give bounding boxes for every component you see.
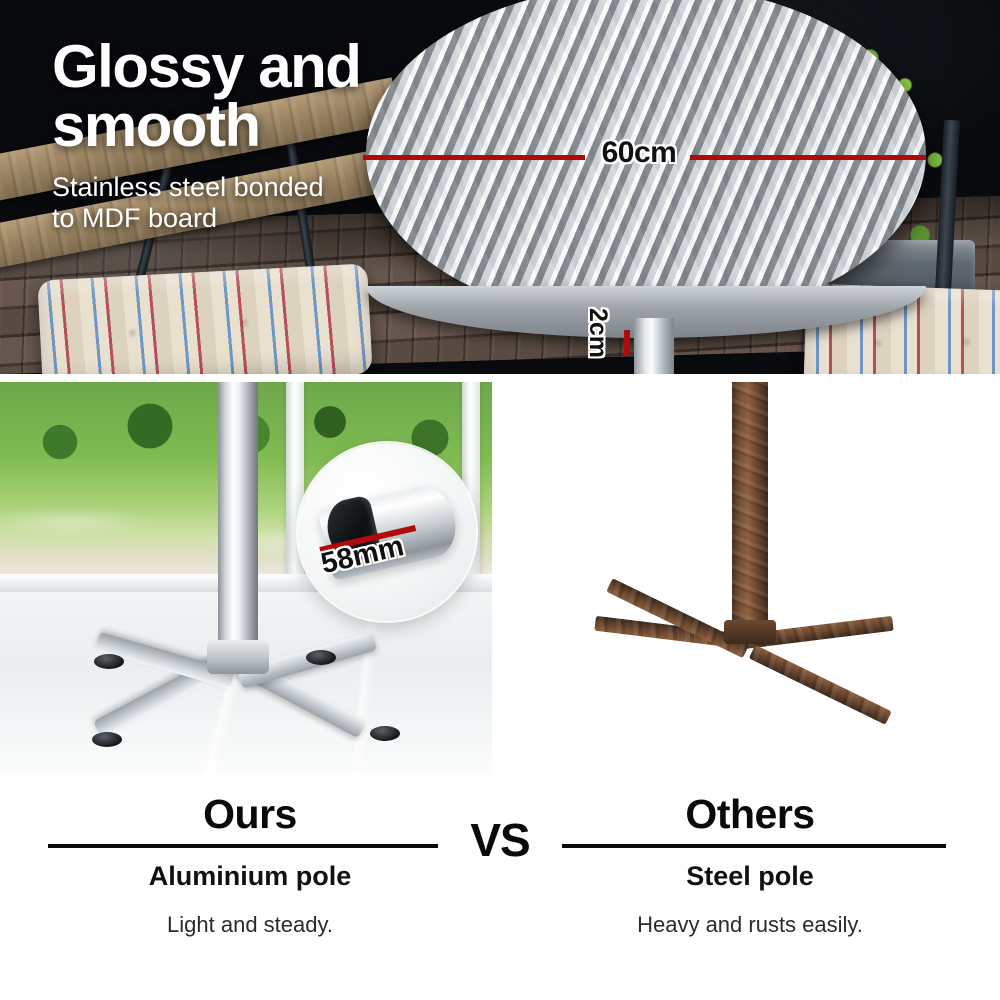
aluminium-pole (218, 382, 258, 654)
thickness-tick (624, 330, 630, 356)
divider-left (48, 844, 438, 848)
hero-headline-block: Glossy and smooth Stainless steel bonded… (52, 38, 452, 234)
thickness-label: 2cm (583, 308, 612, 358)
rusty-base-leg (749, 645, 892, 725)
base-foot (370, 726, 400, 741)
rusty-steel-pole (732, 382, 768, 632)
hero-subtext-line-2: to MDF board (52, 203, 452, 234)
others-note: Heavy and rusts easily. (540, 912, 960, 938)
product-feature-page: 60cm 2cm Glossy and smooth Stainless ste… (0, 0, 1000, 1000)
hero-section: 60cm 2cm Glossy and smooth Stainless ste… (0, 0, 1000, 374)
ours-vs-others-section: Ours Aluminium pole Light and steady. VS… (0, 780, 1000, 1000)
rusty-base-leg (606, 578, 749, 658)
ours-column: Ours Aluminium pole Light and steady. (40, 780, 460, 938)
diameter-label: 60cm (586, 136, 692, 170)
base-foot (92, 732, 122, 747)
headline-line-2: smooth (52, 97, 452, 156)
table-pole (634, 318, 674, 374)
rusty-base-hub (724, 620, 776, 644)
vs-label: VS (455, 813, 545, 867)
others-subtitle: Steel pole (540, 861, 960, 892)
others-column: Others Steel pole Heavy and rusts easily… (540, 780, 960, 938)
steel-base-photo (500, 382, 1000, 774)
diameter-line-right (690, 155, 926, 160)
base-foot (306, 650, 336, 665)
striped-cushion (37, 263, 372, 374)
tube-diameter-inset: 58mm (298, 443, 476, 621)
others-title: Others (540, 780, 960, 835)
ours-subtitle: Aluminium pole (40, 861, 460, 892)
ours-title: Ours (40, 780, 460, 835)
headline-line-1: Glossy and (52, 38, 452, 97)
base-hub (207, 640, 269, 674)
hero-subtext-line-1: Stainless steel bonded (52, 172, 452, 203)
base-foot (94, 654, 124, 669)
comparison-photos-row (0, 382, 1000, 774)
ours-note: Light and steady. (40, 912, 460, 938)
